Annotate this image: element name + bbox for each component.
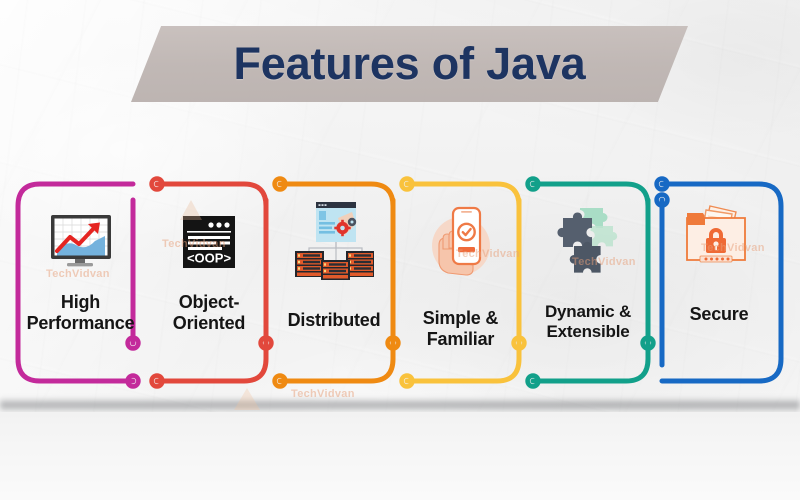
monitor-chart-icon bbox=[45, 206, 117, 278]
card-content-high-performance: High Performance bbox=[14, 180, 147, 385]
card-label-distributed: Distributed bbox=[282, 310, 387, 331]
card-label-line1: High bbox=[27, 292, 135, 313]
card-label-line1: Secure bbox=[690, 304, 749, 325]
card-label-dynamic-extensible: Dynamic & Extensible bbox=[539, 302, 637, 342]
card-content-simple-familiar: Simple & Familiar bbox=[398, 180, 523, 385]
card-label-line2: Extensible bbox=[545, 322, 631, 342]
card-content-distributed: Distributed bbox=[271, 180, 397, 385]
locked-folder-icon bbox=[682, 202, 756, 270]
card-content-object-oriented: <OOP> Object- Oriented bbox=[148, 180, 270, 385]
svg-text:<OOP>: <OOP> bbox=[187, 251, 231, 266]
card-label-line2: Oriented bbox=[173, 313, 245, 334]
card-label-object-oriented: Object- Oriented bbox=[167, 292, 251, 334]
card-label-line1: Distributed bbox=[288, 310, 381, 331]
card-label-line2: Performance bbox=[27, 313, 135, 334]
infographic-canvas: Features of Java bbox=[0, 0, 800, 500]
card-label-line1: Dynamic & bbox=[545, 302, 631, 322]
feature-card-simple-familiar[interactable]: Simple & Familiar TechVidvan bbox=[398, 180, 523, 385]
card-content-secure: Secure bbox=[653, 180, 785, 385]
code-window-oop-icon: <OOP> bbox=[173, 206, 245, 278]
distributed-servers-icon bbox=[294, 202, 374, 280]
watermark-text: TechVidvan bbox=[291, 388, 355, 400]
card-label-simple-familiar: Simple & Familiar bbox=[417, 308, 504, 350]
feature-card-high-performance[interactable]: High Performance TechVidvan bbox=[14, 180, 147, 385]
features-row: High Performance TechVidvan bbox=[0, 0, 800, 500]
card-content-dynamic-extensible: Dynamic & Extensible bbox=[524, 180, 652, 385]
feature-card-secure[interactable]: Secure TechVidvan bbox=[653, 180, 785, 385]
feature-card-distributed[interactable]: Distributed TechVidvan bbox=[271, 180, 397, 385]
card-label-line1: Simple & bbox=[423, 308, 498, 329]
card-label-line2: Familiar bbox=[423, 329, 498, 350]
feature-card-dynamic-extensible[interactable]: Dynamic & Extensible TechVidvan bbox=[524, 180, 652, 385]
card-label-high-performance: High Performance bbox=[21, 292, 141, 334]
puzzle-pieces-icon bbox=[550, 202, 626, 276]
feature-card-object-oriented[interactable]: <OOP> Object- Oriented TechVidvan bbox=[148, 180, 270, 385]
card-label-secure: Secure bbox=[684, 304, 755, 325]
card-label-line1: Object- bbox=[173, 292, 245, 313]
hand-holding-phone-icon bbox=[422, 200, 500, 280]
